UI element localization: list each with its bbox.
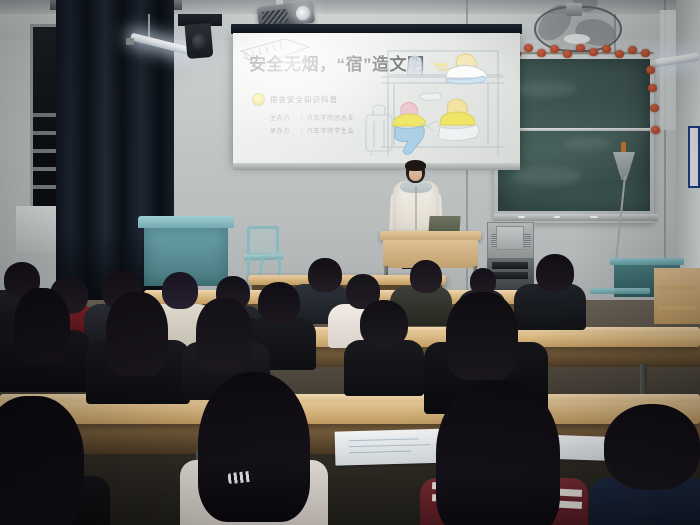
student-head bbox=[604, 404, 700, 490]
projector-vents bbox=[261, 9, 288, 25]
decorative-flower bbox=[550, 45, 559, 53]
decorative-flower bbox=[537, 49, 546, 57]
paper-rule bbox=[349, 451, 411, 454]
decorative-flower bbox=[602, 45, 611, 53]
lectern-top bbox=[138, 216, 234, 228]
credit-label: 主办方 bbox=[270, 113, 300, 126]
chalk-smudge bbox=[512, 167, 582, 185]
fan-mount bbox=[566, 3, 582, 16]
credit-value: 汽车学院学生会 bbox=[307, 129, 355, 135]
credit-separator: ： bbox=[300, 116, 307, 122]
student-long-hair bbox=[196, 298, 252, 372]
student-head bbox=[258, 282, 300, 324]
chalk-piece bbox=[590, 216, 598, 218]
student-head bbox=[308, 258, 342, 292]
student-head bbox=[470, 268, 496, 295]
student-head bbox=[162, 272, 198, 309]
paper-rule bbox=[349, 438, 419, 441]
wall-speaker bbox=[185, 23, 214, 59]
side-table-top bbox=[610, 258, 684, 265]
student-head bbox=[536, 254, 574, 292]
projection-screen: 安全无烟，“宿”造文明 宿舍安全知识科普 主办方：汽车学院团总支 承办方：汽车学… bbox=[233, 33, 520, 165]
decorative-flower bbox=[524, 44, 533, 52]
decorative-flower bbox=[628, 46, 637, 54]
student-long-hair bbox=[198, 372, 310, 522]
dormitory-bunk-bed-illustration bbox=[364, 37, 514, 161]
presenter-hair bbox=[405, 160, 426, 171]
chalk-piece bbox=[554, 216, 560, 218]
projection-screen-weight-bar bbox=[233, 163, 520, 170]
hoodie-zipper bbox=[415, 186, 417, 230]
hanging-hook bbox=[621, 142, 626, 153]
credit-label: 承办方 bbox=[270, 126, 300, 139]
credit-line: 主办方：汽车学院团总支 bbox=[270, 113, 354, 126]
credit-separator: ： bbox=[300, 129, 307, 135]
av-cabinet-door bbox=[496, 226, 524, 250]
chalk-smudge bbox=[516, 81, 576, 97]
student-torso bbox=[344, 340, 424, 396]
chalk-smudge bbox=[564, 137, 612, 150]
light-cap bbox=[126, 38, 134, 45]
student-long-hair bbox=[446, 292, 518, 380]
slide-subtitle: 宿舍安全知识科普 bbox=[270, 94, 338, 105]
cabinet-shelf bbox=[658, 286, 696, 290]
blackboard-divider bbox=[498, 128, 650, 131]
student-head bbox=[360, 300, 408, 348]
projector-lens bbox=[295, 5, 312, 22]
decorative-flower bbox=[615, 50, 624, 58]
decorative-flower bbox=[646, 66, 655, 74]
student-long-hair bbox=[436, 380, 560, 525]
decorative-flower bbox=[589, 48, 598, 56]
wooden-cabinet bbox=[654, 268, 700, 324]
student-head bbox=[410, 260, 442, 293]
decorative-flower bbox=[650, 104, 659, 112]
student-long-hair bbox=[0, 396, 84, 525]
blackboard bbox=[498, 59, 650, 211]
decorative-flower bbox=[648, 84, 657, 92]
wall-notice-sign bbox=[688, 126, 700, 188]
chalk-piece bbox=[518, 216, 525, 218]
av-amplifier bbox=[492, 262, 528, 269]
decorative-flower bbox=[651, 126, 660, 134]
side-table-top bbox=[590, 288, 650, 294]
chalk-tray bbox=[494, 214, 658, 221]
paper-rule bbox=[349, 444, 431, 447]
classroom-scene-photo: 安全无烟，“宿”造文明 宿舍安全知识科普 主办方：汽车学院团总支 承办方：汽车学… bbox=[0, 0, 700, 525]
folding-chair-back bbox=[247, 226, 279, 256]
student-long-hair bbox=[106, 292, 168, 376]
decorative-flower bbox=[576, 44, 585, 52]
slide-credits: 主办方：汽车学院团总支 承办方：汽车学院学生会 bbox=[270, 113, 354, 138]
credit-value: 汽车学院团总支 bbox=[307, 116, 355, 122]
student-long-hair bbox=[14, 288, 70, 364]
slide-subtitle-row: 宿舍安全知识科普 bbox=[252, 93, 338, 106]
cabinet-shelf bbox=[658, 306, 696, 310]
bullet-icon bbox=[252, 93, 265, 106]
teachers-desk-top bbox=[380, 231, 481, 240]
av-amplifier bbox=[492, 272, 528, 279]
decorative-flower bbox=[563, 50, 572, 58]
speaker-grille bbox=[523, 234, 531, 247]
decorative-flower bbox=[641, 49, 650, 57]
credit-line: 承办方：汽车学院学生会 bbox=[270, 126, 354, 139]
bench-leg bbox=[640, 364, 647, 396]
speaker-cone bbox=[191, 32, 207, 51]
